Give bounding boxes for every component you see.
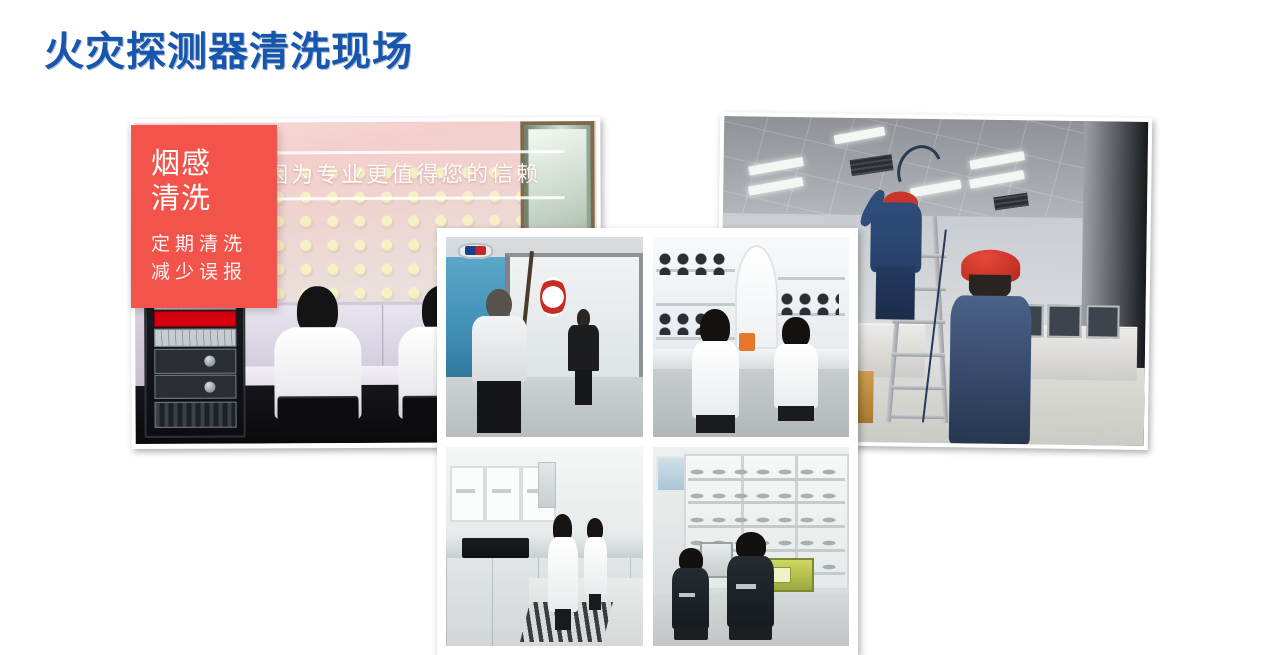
tile-detector-testing-shelves[interactable] [652, 446, 851, 648]
lab-technician-left [692, 309, 739, 433]
cleaning-technician-front [548, 514, 577, 630]
tile-lab-bench-testing[interactable] [652, 236, 851, 438]
collage-grid [445, 236, 850, 647]
page-title: 火灾探测器清洗现场 [44, 30, 413, 74]
lab-technician-right [774, 317, 817, 421]
banner-sub-line1: 定期清洗 [151, 231, 277, 260]
testing-operator-right [727, 532, 774, 640]
work-bench [653, 349, 850, 369]
desktop-monitor [1086, 305, 1120, 339]
worker-with-red-helmet [949, 249, 1032, 445]
photo-gallery: 因为专业更值得您的信赖 [0, 100, 1280, 580]
wall-column [538, 462, 556, 508]
banner-headline-line2: 清洗 [151, 182, 277, 217]
promo-banner[interactable]: 烟感 清洗 定期清洗 减少误报 [131, 125, 277, 308]
wall-window [656, 456, 686, 492]
banner-sub-line2: 减少误报 [151, 259, 277, 288]
wall-placard [485, 466, 520, 522]
wall-placard [450, 466, 485, 522]
technician-background [568, 309, 599, 405]
tile-entrance-inspection[interactable] [445, 236, 644, 438]
inspector-foreground [472, 289, 527, 433]
testing-operator-left [672, 548, 709, 640]
desktop-monitor [1048, 305, 1082, 339]
orange-tool [739, 333, 755, 351]
photo-slogan-text: 因为专业更值得您的信赖 [266, 157, 541, 190]
cleaning-technician-back [584, 518, 608, 610]
lab-floor [653, 369, 850, 437]
seated-technician-left [274, 286, 362, 434]
banner-headline-line1: 烟感 [151, 147, 277, 182]
tile-ultrasonic-cleaning-line[interactable] [445, 446, 644, 648]
photo-service-process-collage[interactable] [437, 228, 858, 655]
door-sign [458, 243, 493, 259]
prohibition-sign [540, 277, 566, 317]
worker-on-ladder [870, 163, 923, 319]
detector-row [658, 253, 729, 275]
ultrasonic-tank [462, 538, 529, 558]
detector-row [780, 293, 839, 315]
